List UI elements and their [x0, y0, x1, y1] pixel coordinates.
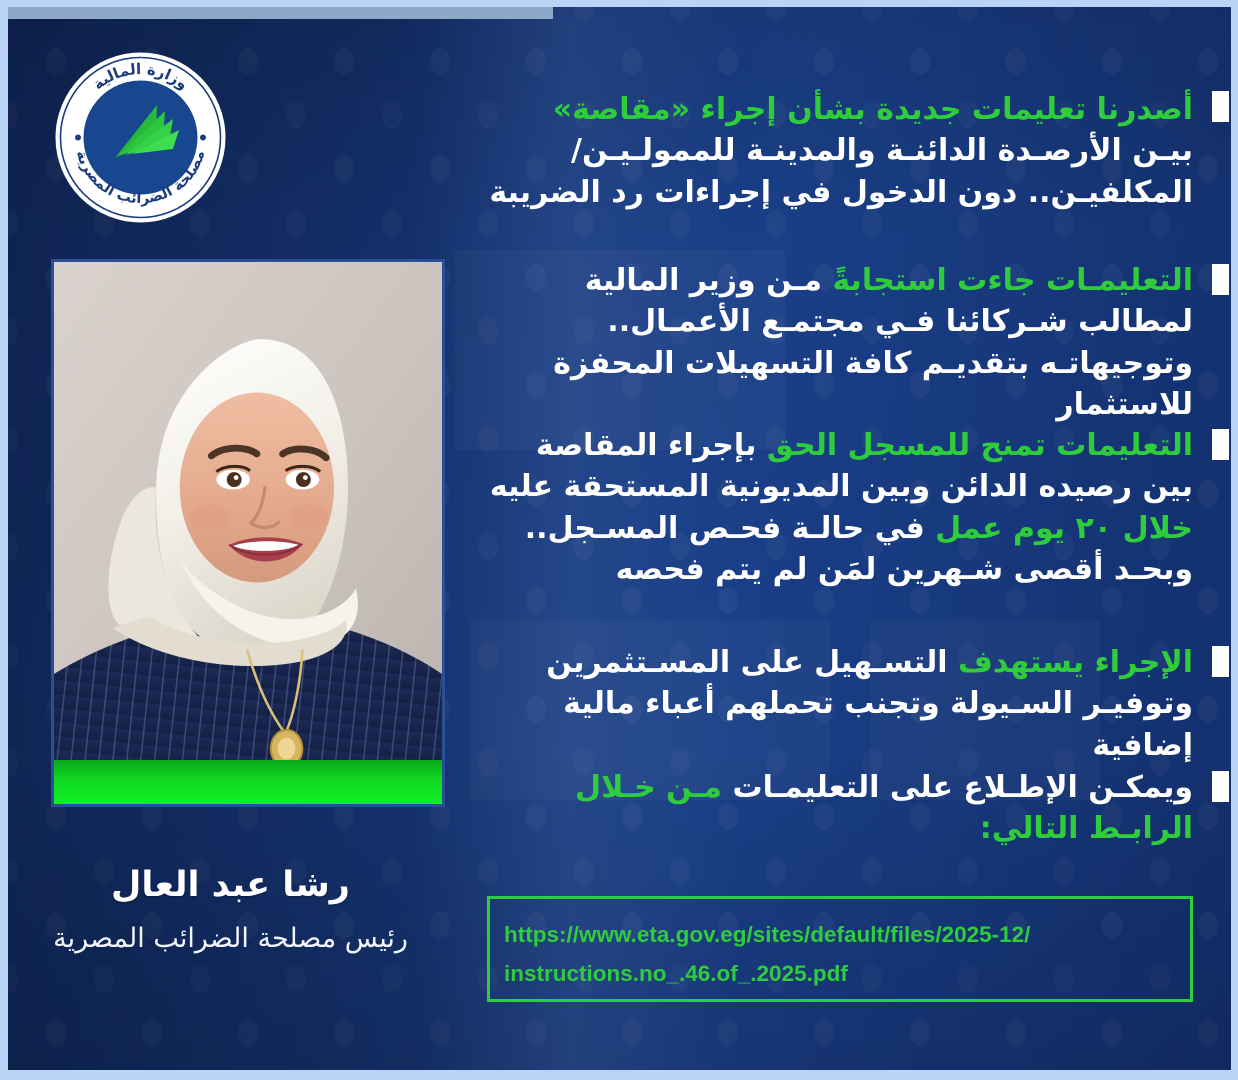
paragraph-marker-3: [1212, 429, 1229, 460]
frame-edge-right: [1231, 0, 1238, 1080]
paragraph-4: الإجراء يستهدف التسـهيل على المسـتثمرين …: [487, 642, 1193, 766]
paragraph-5-lead: ويمكـن الإطـلاع على التعليمـات: [732, 770, 1193, 805]
photo-green-bar: [54, 760, 442, 804]
paragraph-marker-4: [1212, 646, 1229, 677]
content-column: أصدرنا تعليمات جديدة بشأن إجراء «مقاصة» …: [446, 7, 1231, 1070]
left-column: وزارة المالية مصلحة الضرائب المصرية: [8, 7, 453, 1070]
instructions-link-line-2[interactable]: instructions.no_.46.of_.2025.pdf: [504, 954, 1176, 993]
paragraph-1-rest: بيـن الأرصـدة الدائنـة والمدينـة للممولـ…: [489, 133, 1193, 209]
paragraph-1-highlight: أصدرنا تعليمات جديدة بشأن إجراء «مقاصة»: [553, 92, 1193, 127]
instructions-link-line-1[interactable]: https://www.eta.gov.eg/sites/default/fil…: [504, 915, 1176, 954]
paragraph-1: أصدرنا تعليمات جديدة بشأن إجراء «مقاصة» …: [487, 89, 1193, 213]
announcement-card: وزارة المالية مصلحة الضرائب المصرية: [0, 0, 1238, 1080]
paragraph-3-highlight: التعليمات تمنح للمسجل الحق: [767, 428, 1193, 463]
paragraph-2-highlight: التعليمـات جاءت استجابةً: [832, 263, 1193, 298]
frame-top-strip: [8, 7, 553, 19]
frame-edge-bottom: [0, 1070, 1238, 1080]
paragraph-2: التعليمـات جاءت استجابةً مـن وزير المالي…: [487, 260, 1193, 426]
paragraph-marker-2: [1212, 264, 1229, 295]
eta-seal-logo-icon: وزارة المالية مصلحة الضرائب المصرية: [53, 50, 228, 225]
paragraph-marker-1: [1212, 91, 1229, 122]
person-name: رشا عبد العال: [8, 865, 453, 905]
paragraph-3: التعليمات تمنح للمسجل الحق بإجراء المقاص…: [487, 425, 1193, 591]
paragraph-3-highlight-2: خلال ٢٠ يوم عمل: [935, 511, 1193, 546]
paragraph-marker-5: [1212, 771, 1229, 802]
person-title: رئيس مصلحة الضرائب المصرية: [8, 919, 453, 958]
paragraph-4-highlight: الإجراء يستهدف: [958, 645, 1193, 680]
paragraph-5: ويمكـن الإطـلاع على التعليمـات مـن خـلال…: [487, 767, 1193, 850]
frame-edge-top: [0, 0, 1238, 7]
instructions-link-box[interactable]: https://www.eta.gov.eg/sites/default/fil…: [487, 896, 1193, 1002]
frame-edge-left: [0, 0, 8, 1080]
person-photo: [51, 259, 445, 807]
